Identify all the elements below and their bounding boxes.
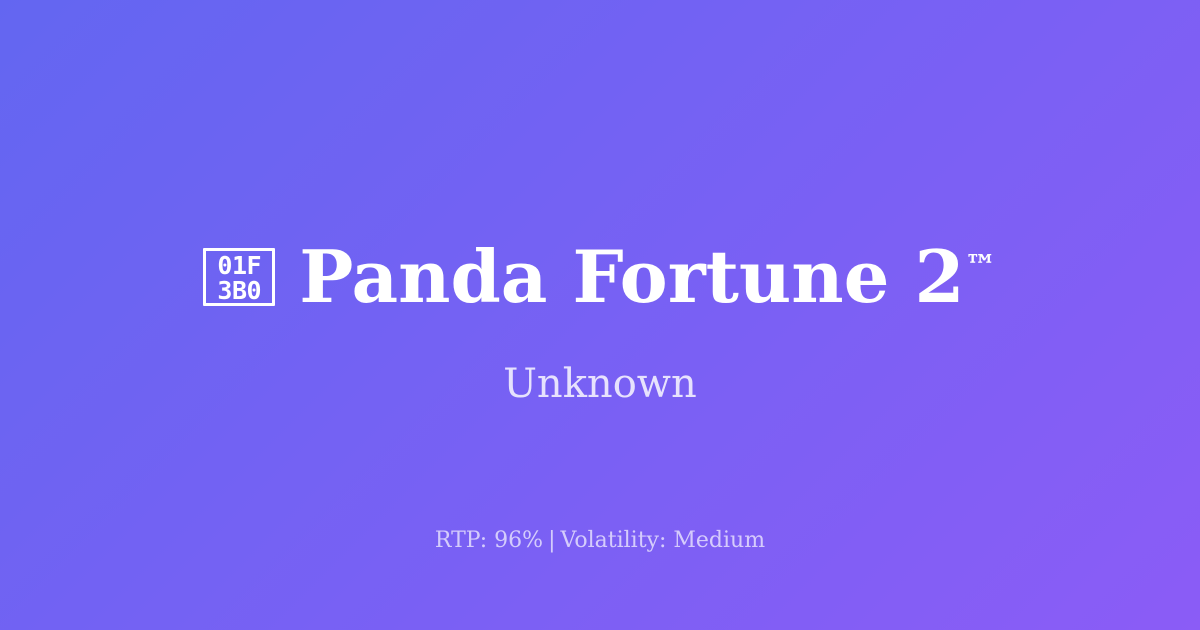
volatility-stat: Volatility: Medium [561, 528, 766, 553]
og-share-card: 01F 3B0 Panda Fortune 2™ Unknown RTP: 96… [0, 0, 1200, 630]
title-line: 01F 3B0 Panda Fortune 2™ [163, 191, 1037, 364]
game-title-name: Panda Fortune 2 [299, 234, 964, 319]
page-title: Panda Fortune 2™ [299, 239, 997, 315]
meta-separator: | [543, 528, 560, 553]
provider-subtitle: Unknown [0, 360, 1200, 408]
game-meta-line: RTP: 96%|Volatility: Medium [0, 527, 1200, 556]
tofu-codepoint-top: 01F [217, 253, 261, 278]
rtp-stat: RTP: 96% [435, 528, 543, 553]
tofu-codepoint-bottom: 3B0 [217, 278, 261, 303]
slot-machine-tofu-icon: 01F 3B0 [203, 248, 275, 306]
trademark-symbol: ™ [965, 248, 997, 285]
